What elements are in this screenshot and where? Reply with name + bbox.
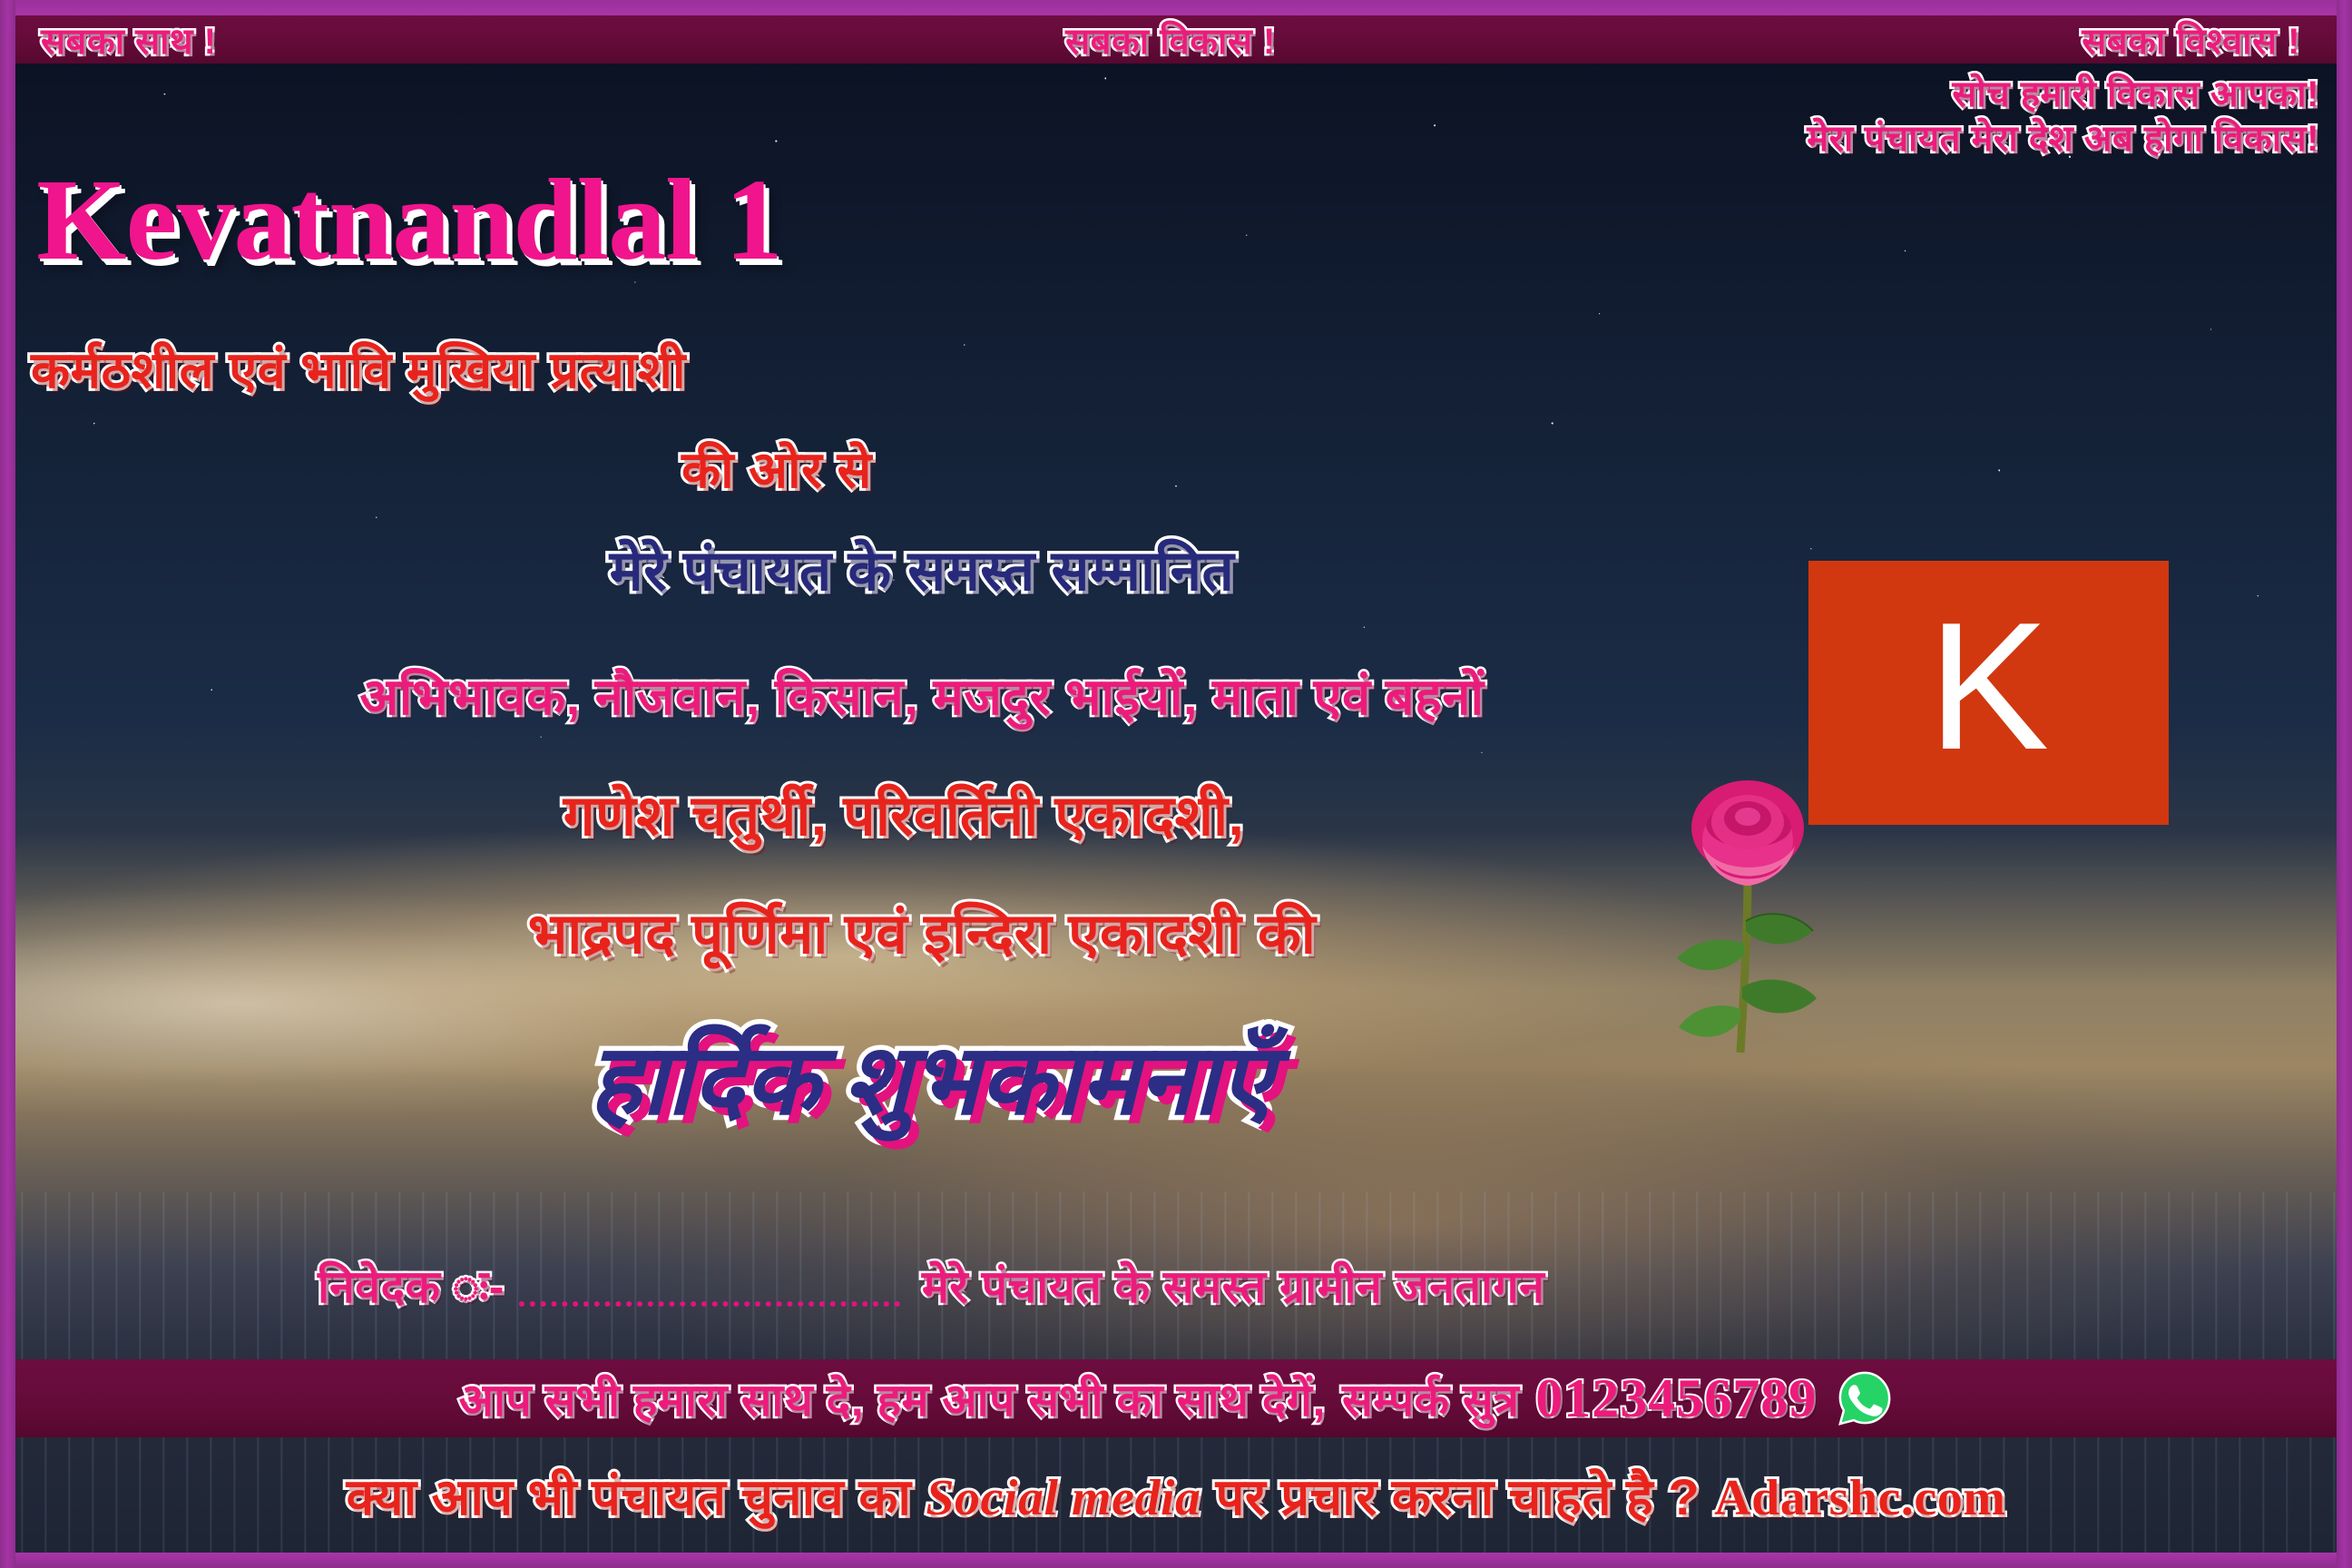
contact-bar: आप सभी हमारा साथ दे, हम आप सभी का साथ दे… — [15, 1359, 2337, 1437]
slogan-right-slot: सबका विश्वास ! — [1547, 15, 2337, 64]
promo-website[interactable]: Adarshc.com — [1714, 1470, 2005, 1526]
top-purple-strip — [0, 0, 2352, 15]
right-purple-border — [2337, 0, 2352, 1568]
promo-text-english: Social media — [926, 1470, 1200, 1526]
promo-text: क्या आप भी पंचायत चुनाव का Social media … — [347, 1461, 2006, 1530]
slogan-sabka-vikas: सबका विकास ! — [1065, 15, 1276, 64]
tagline-block: सोच हमारी विकास आपका! मेरा पंचायत मेरा द… — [1807, 73, 2319, 162]
greeting-headline: हार्दिक शुभकामनाएँ — [0, 1009, 2352, 1142]
promo-text-hindi-1: क्या आप भी पंचायत चुनाव का — [347, 1468, 912, 1525]
left-purple-border — [0, 0, 15, 1568]
tagline-line-1: सोच हमारी विकास आपका! — [1807, 73, 2319, 117]
from-line: की ओर से — [0, 434, 2352, 503]
message-line-festival-2: भाद्रपद पूर्णिमा एवं इन्दिरा एकादशी की — [0, 894, 2352, 970]
candidate-role-line: कर्मठशील एवं भावि मुखिया प्रत्याशी — [31, 334, 686, 403]
slogan-left-slot: सबका साथ ! — [15, 15, 794, 64]
contact-label: सम्पर्क सुत्र — [1342, 1367, 1519, 1429]
slogan-center-slot: सबका विकास ! — [794, 15, 1547, 64]
appeal-text: आप सभी हमारा साथ दे, हम आप सभी का साथ दे… — [459, 1367, 1326, 1429]
slogan-sabka-saath: सबका साथ ! — [41, 15, 216, 64]
promo-text-hindi-2: पर प्रचार करना चाहते है ? — [1216, 1468, 1700, 1525]
promo-bar: क्या आप भी पंचायत चुनाव का Social media … — [15, 1437, 2337, 1553]
whatsapp-icon[interactable] — [1837, 1370, 1893, 1426]
signature-label: निवेदक ः- — [318, 1254, 505, 1316]
contact-phone-number[interactable]: 0123456789 — [1535, 1367, 1817, 1430]
election-greeting-poster: सबका साथ ! सबका विकास ! सबका विश्वास ! स… — [0, 0, 2352, 1568]
signature-row: निवेदक ः- मेरे पंचायत के समस्त ग्रामीन ज… — [0, 1254, 2352, 1316]
candidate-name: Kevatnandlal 1 — [36, 162, 782, 278]
message-line-audience: अभिभावक, नौजवान, किसान, मजदुर भाईयों, मा… — [0, 661, 2352, 730]
signature-dotted-line — [519, 1301, 900, 1307]
message-line-my-panchayat: मेरे पंचायत के समस्त सम्मानित — [0, 531, 2352, 607]
message-line-festival-1: गणेश चतुर्थी, परिवर्तिनी एकादशी, — [0, 776, 2352, 852]
tagline-line-2: मेरा पंचायत मेरा देश अब होगा विकास! — [1807, 117, 2319, 162]
top-slogan-bar: सबका साथ ! सबका विकास ! सबका विश्वास ! — [15, 15, 2337, 64]
signature-value: मेरे पंचायत के समस्त ग्रामीन जनतागन — [922, 1254, 1544, 1316]
bottom-purple-strip — [0, 1553, 2352, 1568]
slogan-sabka-vishwas: सबका विश्वास ! — [2082, 15, 2300, 64]
